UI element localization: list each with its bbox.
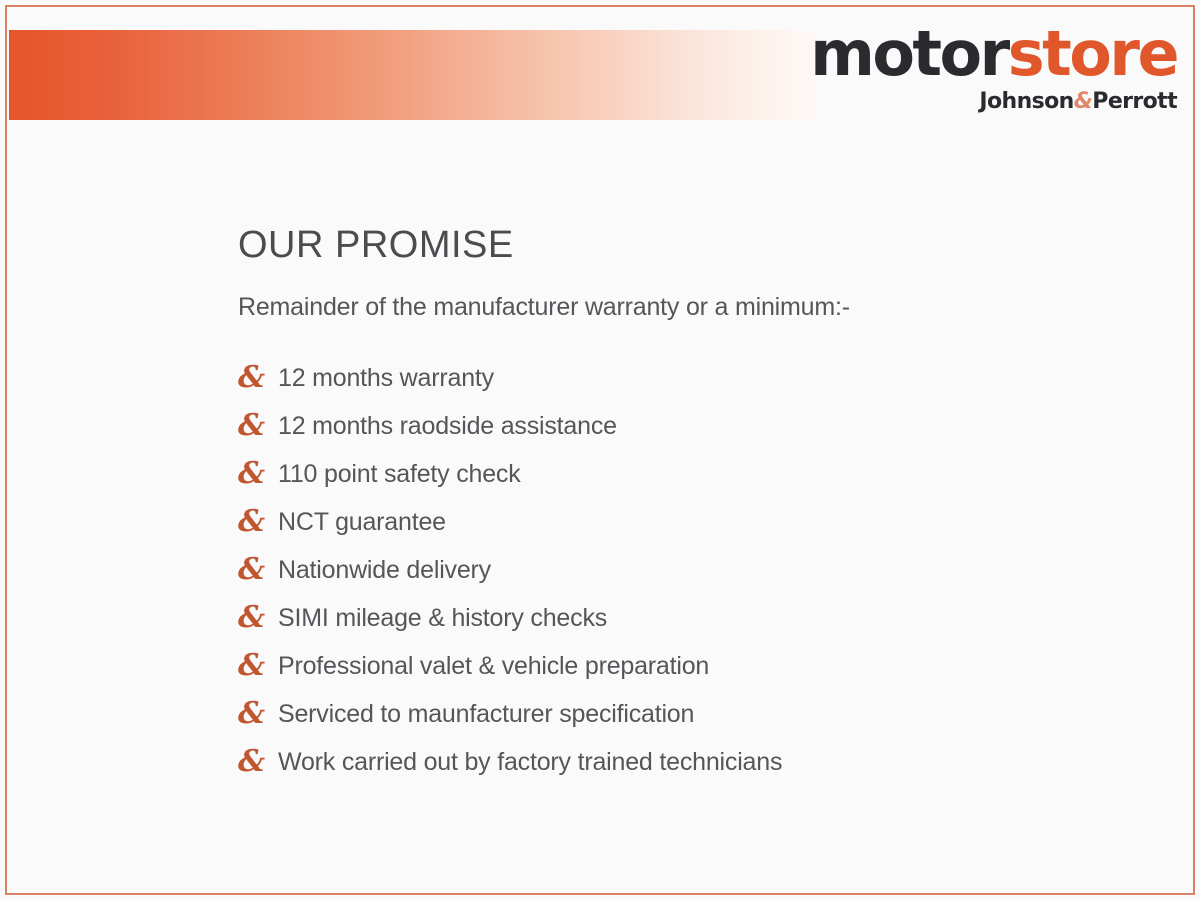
list-item-label: 12 months raodside assistance (278, 414, 617, 439)
logo-word-store: store (1008, 17, 1177, 90)
list-item-label: SIMI mileage & history checks (278, 606, 607, 631)
list-item-label: Serviced to maunfacturer specification (278, 702, 694, 727)
brand-logo: motorstore Johnson&Perrott (810, 23, 1177, 113)
list-item-label: Work carried out by factory trained tech… (278, 750, 782, 775)
page-subtitle: Remainder of the manufacturer warranty o… (238, 292, 1138, 322)
ampersand-bullet-icon: & (238, 507, 278, 537)
list-item: &110 point safety check (238, 451, 1138, 499)
ampersand-bullet-icon: & (238, 603, 278, 633)
list-item-label: 12 months warranty (278, 366, 494, 391)
list-item: &12 months warranty (238, 355, 1138, 403)
page-title: OUR PROMISE (238, 225, 1138, 267)
list-item-label: Professional valet & vehicle preparation (278, 654, 709, 679)
promise-slide: motorstore Johnson&Perrott OUR PROMISE R… (0, 0, 1200, 900)
logo-subtitle-johnson: Johnson (979, 89, 1073, 114)
ampersand-bullet-icon: & (238, 459, 278, 489)
list-item: &NCT guarantee (238, 499, 1138, 547)
list-item: &Nationwide delivery (238, 547, 1138, 595)
ampersand-bullet-icon: & (238, 699, 278, 729)
ampersand-bullet-icon: & (238, 555, 278, 585)
promise-list: &12 months warranty&12 months raodside a… (238, 355, 1138, 787)
list-item-label: NCT guarantee (278, 510, 446, 535)
ampersand-bullet-icon: & (238, 747, 278, 777)
list-item: &Work carried out by factory trained tec… (238, 739, 1138, 787)
list-item: &12 months raodside assistance (238, 403, 1138, 451)
promise-content: OUR PROMISE Remainder of the manufacture… (238, 225, 1138, 787)
logo-word-motor: motor (810, 17, 1008, 90)
ampersand-bullet-icon: & (238, 411, 278, 441)
logo-wordmark: motorstore (810, 23, 1177, 85)
list-item: &SIMI mileage & history checks (238, 595, 1138, 643)
header-gradient-band (9, 30, 817, 120)
ampersand-bullet-icon: & (238, 651, 278, 681)
logo-subtitle-perrott: Perrott (1092, 89, 1177, 114)
list-item: &Serviced to maunfacturer specification (238, 691, 1138, 739)
list-item: &Professional valet & vehicle preparatio… (238, 643, 1138, 691)
list-item-label: Nationwide delivery (278, 558, 491, 583)
ampersand-bullet-icon: & (238, 363, 278, 393)
ampersand-icon: & (1074, 89, 1093, 114)
list-item-label: 110 point safety check (278, 462, 521, 487)
logo-subtitle: Johnson&Perrott (810, 91, 1177, 113)
slide-header: motorstore Johnson&Perrott (9, 9, 1191, 127)
